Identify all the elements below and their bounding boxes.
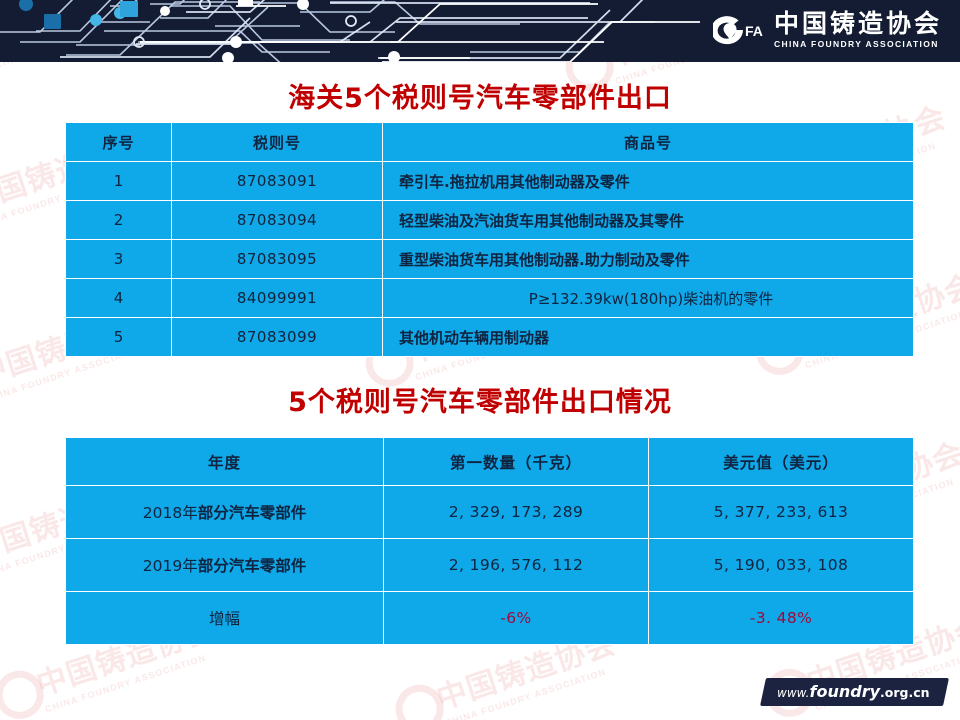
cell-quantity: 2, 196, 576, 112 — [384, 539, 649, 592]
table-row: 5 87083099 其他机动车辆用制动器 — [66, 318, 914, 357]
table-header-row: 序号 税则号 商品号 — [66, 123, 914, 162]
cell-code: 87083091 — [172, 162, 383, 201]
cell-year: 增幅 — [66, 592, 384, 645]
cell-index: 2 — [66, 201, 172, 240]
column-header-code: 税则号 — [172, 123, 383, 162]
svg-text:FA: FA — [745, 23, 763, 39]
cell-code: 87083099 — [172, 318, 383, 357]
table-row: 1 87083091 牵引车.拖拉机用其他制动器及零件 — [66, 162, 914, 201]
cell-code: 87083094 — [172, 201, 383, 240]
year-label: 增幅 — [209, 610, 240, 628]
cell-quantity-growth: -6% — [384, 592, 649, 645]
export-summary-table: 年度 第一数量（千克） 美元值（美元） 2018年部分汽车零部件 2, 329,… — [65, 437, 914, 645]
table-row: 3 87083095 重型柴油货车用其他制动器.助力制动及零件 — [66, 240, 914, 279]
year-prefix: 2019年 — [143, 557, 198, 575]
cell-value-usd: 5, 377, 233, 613 — [649, 486, 914, 539]
logo-name-cn: 中国铸造协会 — [774, 11, 942, 36]
cfa-mark-icon: FA — [713, 11, 765, 49]
column-header-product: 商品号 — [383, 123, 914, 162]
cell-year: 2019年部分汽车零部件 — [66, 539, 384, 592]
year-prefix: 2018年 — [143, 504, 198, 522]
section-title-export-summary: 5个税则号汽车零部件出口情况 — [0, 380, 960, 419]
cell-index: 5 — [66, 318, 172, 357]
column-header-year: 年度 — [66, 438, 384, 486]
cell-year: 2018年部分汽车零部件 — [66, 486, 384, 539]
foundry-website-badge[interactable]: www.foundry.org.cn — [760, 678, 948, 706]
table-row: 2018年部分汽车零部件 2, 329, 173, 289 5, 377, 23… — [66, 486, 914, 539]
cell-value-usd-growth: -3. 48% — [649, 592, 914, 645]
table-row: 4 84099991 P≥132.39kw(180hp)柴油机的零件 — [66, 279, 914, 318]
table-row: 2019年部分汽车零部件 2, 196, 576, 112 5, 190, 03… — [66, 539, 914, 592]
website-www: www. — [777, 686, 810, 700]
association-logo: FA 中国铸造协会 CHINA FOUNDRY ASSOCIATION — [713, 11, 942, 49]
cell-product: 牵引车.拖拉机用其他制动器及零件 — [383, 162, 914, 201]
column-header-value: 美元值（美元） — [649, 438, 914, 486]
column-header-quantity: 第一数量（千克） — [384, 438, 649, 486]
cell-value-usd: 5, 190, 033, 108 — [649, 539, 914, 592]
customs-tariff-codes-table: 序号 税则号 商品号 1 87083091 牵引车.拖拉机用其他制动器及零件 2… — [65, 122, 914, 357]
table-row: 2 87083094 轻型柴油及汽油货车用其他制动器及其零件 — [66, 201, 914, 240]
cell-quantity: 2, 329, 173, 289 — [384, 486, 649, 539]
cell-product: 其他机动车辆用制动器 — [383, 318, 914, 357]
year-label: 部分汽车零部件 — [198, 504, 307, 522]
section-title-customs-codes: 海关5个税则号汽车零部件出口 — [0, 76, 960, 115]
cell-index: 4 — [66, 279, 172, 318]
cell-code: 87083095 — [172, 240, 383, 279]
table-header-row: 年度 第一数量（千克） 美元值（美元） — [66, 438, 914, 486]
slide-canvas: 中国铸造协会 CHINA FOUNDRY ASSOCIATION 中国铸造协会 … — [0, 0, 960, 720]
cell-index: 3 — [66, 240, 172, 279]
website-name: foundry — [810, 682, 881, 701]
cell-code: 84099991 — [172, 279, 383, 318]
header-band: FA 中国铸造协会 CHINA FOUNDRY ASSOCIATION — [0, 0, 960, 62]
cell-product: 重型柴油货车用其他制动器.助力制动及零件 — [383, 240, 914, 279]
website-tld: .org.cn — [880, 685, 930, 700]
column-header-index: 序号 — [66, 123, 172, 162]
table-row-growth: 增幅 -6% -3. 48% — [66, 592, 914, 645]
logo-name-en: CHINA FOUNDRY ASSOCIATION — [774, 40, 942, 49]
year-label: 部分汽车零部件 — [198, 557, 307, 575]
cell-product: 轻型柴油及汽油货车用其他制动器及其零件 — [383, 201, 914, 240]
cell-index: 1 — [66, 162, 172, 201]
cell-product: P≥132.39kw(180hp)柴油机的零件 — [383, 279, 914, 318]
